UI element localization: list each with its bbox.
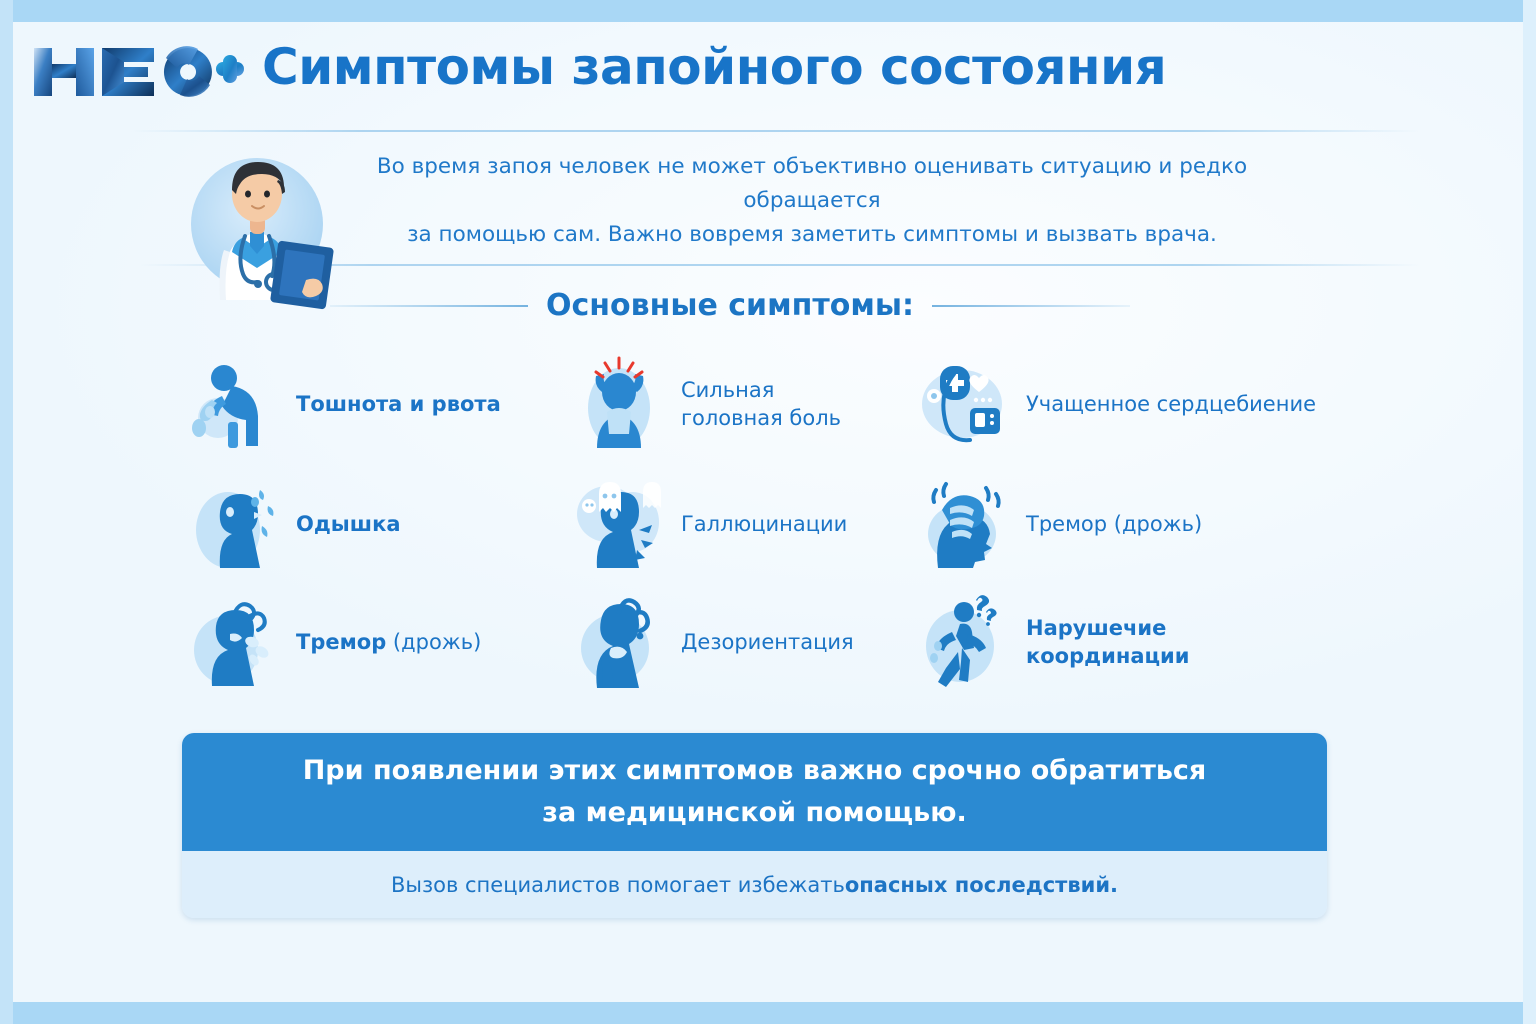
symptom-label-line2: головная боль [681,404,841,432]
vomiting-person-icon [182,352,286,456]
callout-sub: Вызов специалистов помогает избежать опа… [182,851,1327,918]
doctor-with-clipboard-illustration [170,132,345,312]
page-title: Симптомы запойного состояния [262,38,1166,96]
top-decorative-band [0,0,1536,22]
heading-rule-right [932,305,1130,307]
symptom-item: Учащенное сердцебиение [912,344,1332,464]
symptom-label-line1: Сильная [681,378,774,402]
intro-line-2: за помощью сам. Важно вовремя заметить с… [407,222,1217,247]
left-decorative-band [0,0,13,1024]
callout-main-line1: При появлении этих симптомов важно срочн… [303,750,1207,792]
right-decorative-band [1523,0,1536,1024]
symptom-label: Дезориентация [681,628,854,656]
symptom-label: Тремор (дрожь) [296,628,481,656]
symptom-item: Тремор (дрожь) [912,464,1332,584]
section-heading-label: Основные симптомы: [546,288,914,323]
intro-section: Во время запоя человек не может объектив… [170,132,1310,262]
symptom-label: Тремор (дрожь) [1026,510,1202,538]
infographic-poster: Симптомы запойного состояния [0,0,1536,1024]
header: Симптомы запойного состояния [0,34,1536,112]
symptom-label: Учащенное сердцебиение [1026,390,1316,418]
callout-main: При появлении этих симптомов важно срочн… [182,733,1327,851]
symptom-label: Галлюцинации [681,510,847,538]
symptom-label: Одышка [296,510,401,538]
callout-sub-emphasis: опасных последствий. [845,873,1118,897]
symptom-label-line2: координации [1026,642,1190,670]
bottom-decorative-band [0,1002,1536,1024]
symptom-label-main: Тремор [296,630,386,654]
symptom-label: Тошнота и рвота [296,390,501,418]
coordination-loss-walking-icon [912,590,1016,694]
blood-pressure-monitor-icon [912,352,1016,456]
symptom-item: Тошнота и рвота [182,344,567,464]
heading-rule-left [330,305,528,307]
tremor-head-hands-icon [912,472,1016,576]
symptom-item: Тремор (дрожь) [182,584,567,699]
neo-plus-logo [30,40,245,104]
shortness-of-breath-icon [182,472,286,576]
symptom-item: Дезориентация [567,584,912,699]
intro-text: Во время запоя человек не может объектив… [322,150,1302,252]
symptom-label-suffix: (дрожь) [386,630,481,654]
symptom-item: Нарушечие координации [912,584,1332,699]
tremor-shivering-person-icon [182,590,286,694]
intro-line-1: Во время запоя человек не может объектив… [377,154,1247,213]
symptom-label: Сильная головная боль [681,376,841,432]
callout-sub-prefix: Вызов специалистов помогает избежать [391,873,845,897]
disorientation-thinking-person-icon [567,590,671,694]
symptom-item: Сильная головная боль [567,344,912,464]
callout-box: При появлении этих симптомов важно срочн… [182,733,1327,918]
hallucination-ghost-icon [567,472,671,576]
symptom-label: Нарушечие координации [1026,614,1190,670]
section-heading: Основные симптомы: [330,288,1130,323]
symptom-item: Одышка [182,464,567,584]
symptom-item: Галлюцинации [567,464,912,584]
symptom-grid: Тошнота и рвота [182,344,1332,699]
symptom-label-line1: Нарушечие [1026,616,1166,640]
callout-main-line2: за медицинской помощью. [542,792,966,834]
headache-person-icon [567,352,671,456]
